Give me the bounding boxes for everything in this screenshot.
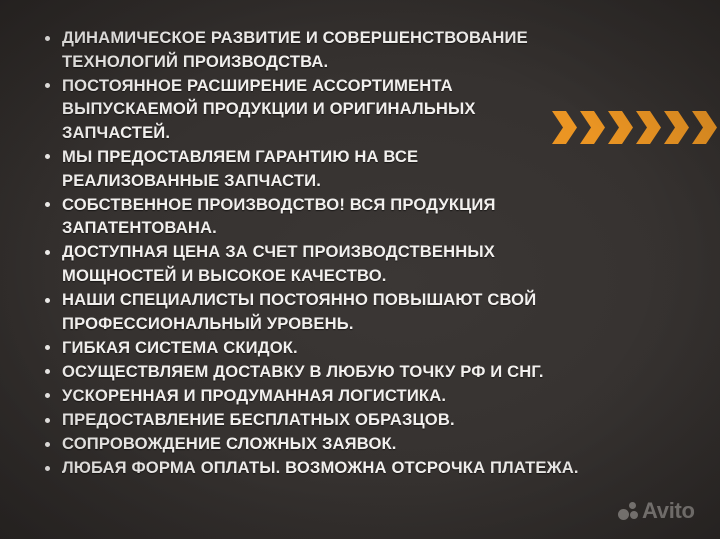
advantage-item: ДИНАМИЧЕСКОЕ РАЗВИТИЕ И СОВЕРШЕНСТВОВАНИ… xyxy=(40,26,580,73)
advantage-item: СОПРОВОЖДЕНИЕ СЛОЖНЫХ ЗАЯВОК. xyxy=(40,432,580,456)
banner-canvas: ДИНАМИЧЕСКОЕ РАЗВИТИЕ И СОВЕРШЕНСТВОВАНИ… xyxy=(0,0,720,539)
advantage-item: ПРЕДОСТАВЛЕНИЕ БЕСПЛАТНЫХ ОБРАЗЦОВ. xyxy=(40,408,580,432)
advantage-item: ГИБКАЯ СИСТЕМА СКИДОК. xyxy=(40,336,580,360)
chevron-right-icon xyxy=(664,111,689,144)
advantages-list: ДИНАМИЧЕСКОЕ РАЗВИТИЕ И СОВЕРШЕНСТВОВАНИ… xyxy=(40,26,580,480)
avito-dot-large xyxy=(618,509,629,520)
chevron-right-icon xyxy=(636,111,661,144)
chevron-right-icon xyxy=(552,111,577,144)
avito-dot-medium xyxy=(630,511,638,519)
chevron-strip xyxy=(552,111,720,144)
avito-dots-icon xyxy=(618,502,639,521)
avito-dot-small-top xyxy=(629,502,636,509)
avito-wordmark: Avito xyxy=(642,500,695,522)
advantage-item: УСКОРЕННАЯ И ПРОДУМАННАЯ ЛОГИСТИКА. xyxy=(40,384,580,408)
advantage-item: ЛЮБАЯ ФОРМА ОПЛАТЫ. ВОЗМОЖНА ОТСРОЧКА ПЛ… xyxy=(40,456,580,480)
chevron-right-icon xyxy=(608,111,633,144)
advantage-item: ДОСТУПНАЯ ЦЕНА ЗА СЧЕТ ПРОИЗВОДСТВЕННЫХ … xyxy=(40,240,580,287)
chevron-right-icon xyxy=(692,111,717,144)
avito-watermark: Avito xyxy=(618,498,695,524)
advantage-item: СОБСТВЕННОЕ ПРОИЗВОДСТВО! ВСЯ ПРОДУКЦИЯ … xyxy=(40,193,580,240)
advantage-item: МЫ ПРЕДОСТАВЛЯЕМ ГАРАНТИЮ НА ВСЕ РЕАЛИЗО… xyxy=(40,145,580,192)
chevron-right-icon xyxy=(580,111,605,144)
advantage-item: НАШИ СПЕЦИАЛИСТЫ ПОСТОЯННО ПОВЫШАЮТ СВОЙ… xyxy=(40,288,580,335)
advantage-item: ОСУЩЕСТВЛЯЕМ ДОСТАВКУ В ЛЮБУЮ ТОЧКУ РФ И… xyxy=(40,360,580,384)
advantage-item: ПОСТОЯННОЕ РАСШИРЕНИЕ АССОРТИМЕНТА ВЫПУС… xyxy=(40,74,580,145)
